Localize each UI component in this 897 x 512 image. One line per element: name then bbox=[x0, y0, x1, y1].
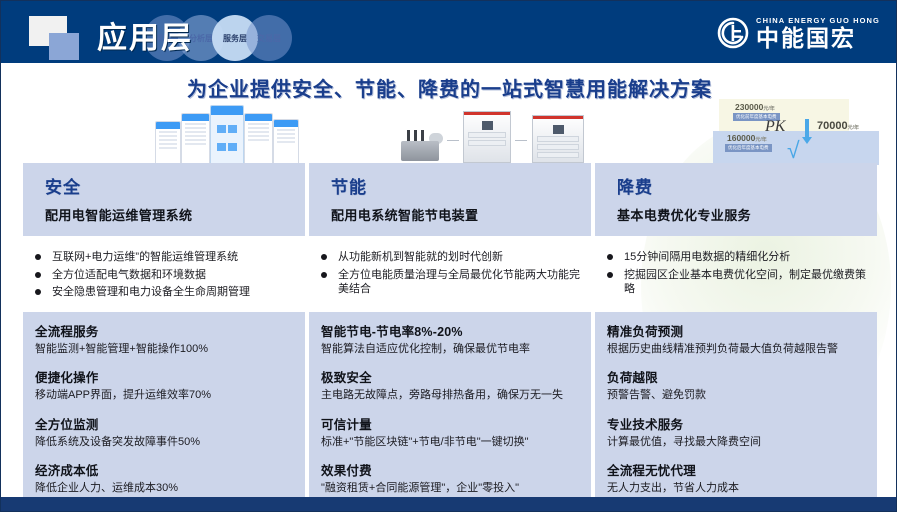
list-item: 全方位电能质量治理与全局最优化节能两大功能完美结合 bbox=[321, 268, 587, 297]
feature-item: 专业技术服务 计算最优值，寻找最大降费空间 bbox=[607, 414, 865, 449]
list-item: 互联网+电力运维”的智能运维管理系统 bbox=[35, 250, 301, 265]
phone-mockup-featured bbox=[210, 105, 244, 165]
column-heading: 降费 bbox=[617, 173, 877, 198]
feature-title: 负荷越限 bbox=[607, 367, 865, 386]
column-bullet-list: 15分钟间隔用电数据的精细化分析 挖掘园区企业基本电费优化空间，制定最优缴费策略 bbox=[595, 250, 877, 308]
transformer-icon bbox=[397, 127, 443, 161]
slide-header: 采集层 分析层 服务层 交易层 应用层 CHINA ENERGY GUO bbox=[1, 1, 897, 63]
list-item: 15分钟间隔用电数据的精细化分析 bbox=[607, 250, 873, 265]
column-header-card: 节能 配用电系统智能节电装置 bbox=[309, 163, 591, 236]
feature-desc: 降低系统及设备突发故障事件50% bbox=[35, 435, 293, 449]
feature-item: 负荷越限 预警告警、避免罚款 bbox=[607, 367, 865, 402]
layer-circle-trade[interactable]: 交易层 bbox=[246, 15, 292, 61]
feature-title: 全流程无忧代理 bbox=[607, 460, 865, 479]
page-title: 为企业提供安全、节能、降费的一站式智慧用能解决方案 bbox=[1, 73, 897, 102]
feature-item: 效果付费 "融资租赁+合同能源管理"，企业"零投入" bbox=[321, 460, 579, 495]
phone-mockup bbox=[181, 113, 210, 165]
column-header-card: 安全 配用电智能运维管理系统 bbox=[23, 163, 305, 236]
feature-item: 经济成本低 降低企业人力、运维成本30% bbox=[35, 460, 293, 495]
column-bullet-list: 互联网+电力运维”的智能运维管理系统 全方位适配电气数据和环境数据 安全隐患管理… bbox=[23, 250, 305, 308]
square-blue bbox=[49, 33, 79, 60]
column-artwork-phones bbox=[23, 105, 305, 163]
column-subheading: 基本电费优化专业服务 bbox=[617, 205, 877, 224]
list-item: 挖掘园区企业基本电费优化空间，制定最优缴费策略 bbox=[607, 268, 873, 297]
list-item: 安全隐患管理和电力设备全生命周期管理 bbox=[35, 285, 301, 300]
feature-title: 便捷化操作 bbox=[35, 367, 293, 386]
phone-mockup bbox=[244, 113, 273, 165]
pk-comparison-graphic: 230000元/年 优化前年度基本电费 PK 160000元/年 优化后年度基本… bbox=[713, 99, 879, 165]
list-item: 从功能新机到智能就的划时代创新 bbox=[321, 250, 587, 265]
feature-desc: 主电路无故障点，旁路母排热备用，确保万无一失 bbox=[321, 388, 579, 402]
equipment-image bbox=[397, 107, 587, 163]
feature-title: 智能节电-节电率8%-20% bbox=[321, 321, 579, 340]
company-logo-icon bbox=[717, 17, 749, 49]
column-energy-saving: 节能 配用电系统智能节电装置 从功能新机到智能就的划时代创新 全方位电能质量治理… bbox=[309, 105, 591, 507]
feature-desc: 智能算法自适应优化控制，确保最优节电率 bbox=[321, 342, 579, 356]
feature-title: 全流程服务 bbox=[35, 321, 293, 340]
feature-desc: 无人力支出，节省人力成本 bbox=[607, 481, 865, 495]
brand-logo: CHINA ENERGY GUO HONG 中能国宏 bbox=[717, 13, 880, 53]
feature-desc: 智能监测+智能管理+智能操作100% bbox=[35, 342, 293, 356]
feature-title: 效果付费 bbox=[321, 460, 579, 479]
slide: 采集层 分析层 服务层 交易层 应用层 CHINA ENERGY GUO bbox=[0, 0, 897, 512]
brand-name-en: CHINA ENERGY GUO HONG bbox=[756, 16, 880, 25]
pk-tag-after: 优化后年度基本电费 bbox=[725, 144, 772, 152]
phone-mockups-image bbox=[155, 103, 305, 165]
layer-circle-label: 交易层 bbox=[257, 33, 281, 44]
pk-value-before: 230000元/年 bbox=[735, 102, 775, 112]
feature-desc: 根据历史曲线精准预判负荷最大值负荷越限告警 bbox=[607, 342, 865, 356]
layer-circle-label: 服务层 bbox=[223, 33, 247, 44]
feature-title: 专业技术服务 bbox=[607, 414, 865, 433]
feature-item: 全方位监测 降低系统及设备突发故障事件50% bbox=[35, 414, 293, 449]
columns-container: 安全 配用电智能运维管理系统 互联网+电力运维”的智能运维管理系统 全方位适配电… bbox=[1, 105, 897, 497]
column-heading: 安全 bbox=[45, 173, 305, 198]
list-item: 全方位适配电气数据和环境数据 bbox=[35, 268, 301, 283]
cabinet-icon bbox=[463, 111, 511, 163]
feature-title: 可信计量 bbox=[321, 414, 579, 433]
feature-item: 便捷化操作 移动端APP界面，提升运维效率70% bbox=[35, 367, 293, 402]
slide-footer-bar bbox=[1, 497, 897, 511]
pk-unit-after: 元/年 bbox=[755, 137, 766, 143]
column-feature-panel: 智能节电-节电率8%-20% 智能算法自适应优化控制，确保最优节电率 极致安全 … bbox=[309, 312, 591, 507]
feature-title: 精准负荷预测 bbox=[607, 321, 865, 340]
connector-dash bbox=[515, 140, 527, 141]
check-icon: √ bbox=[787, 139, 800, 162]
feature-desc: 预警告警、避免罚款 bbox=[607, 388, 865, 402]
column-heading: 节能 bbox=[331, 173, 591, 198]
pk-saving-unit: 元/年 bbox=[848, 125, 859, 131]
column-bullet-list: 从功能新机到智能就的划时代创新 全方位电能质量治理与全局最优化节能两大功能完美结… bbox=[309, 250, 591, 308]
pk-label: PK bbox=[765, 118, 785, 136]
feature-item: 智能节电-节电率8%-20% 智能算法自适应优化控制，确保最优节电率 bbox=[321, 321, 579, 356]
pk-value-after-text: 160000 bbox=[727, 133, 755, 143]
feature-item: 全流程服务 智能监测+智能管理+智能操作100% bbox=[35, 321, 293, 356]
pk-saving-value: 70000元/年 bbox=[817, 120, 859, 132]
column-artwork-pk-chart: 230000元/年 优化前年度基本电费 PK 160000元/年 优化后年度基本… bbox=[595, 105, 877, 163]
phone-mockup bbox=[273, 119, 299, 165]
feature-item: 可信计量 标准+"节能区块链"+节电/非节电"一键切换" bbox=[321, 414, 579, 449]
feature-desc: 移动端APP界面，提升运维效率70% bbox=[35, 388, 293, 402]
column-feature-panel: 全流程服务 智能监测+智能管理+智能操作100% 便捷化操作 移动端APP界面，… bbox=[23, 312, 305, 507]
pk-value-after: 160000元/年 bbox=[727, 133, 767, 143]
app-layer-title: 应用层 bbox=[97, 13, 193, 57]
pk-saving-text: 70000 bbox=[817, 120, 848, 132]
column-security: 安全 配用电智能运维管理系统 互联网+电力运维”的智能运维管理系统 全方位适配电… bbox=[23, 105, 305, 507]
connector-dash bbox=[447, 140, 459, 141]
phone-mockup bbox=[155, 121, 181, 165]
column-cost-reduction: 230000元/年 优化前年度基本电费 PK 160000元/年 优化后年度基本… bbox=[595, 105, 877, 507]
feature-item: 全流程无忧代理 无人力支出，节省人力成本 bbox=[607, 460, 865, 495]
feature-title: 全方位监测 bbox=[35, 414, 293, 433]
brand-name-cn: 中能国宏 bbox=[756, 27, 880, 50]
column-artwork-equipment bbox=[309, 105, 591, 163]
decorative-squares-logo bbox=[29, 16, 89, 58]
column-subheading: 配用电智能运维管理系统 bbox=[45, 205, 305, 224]
column-subheading: 配用电系统智能节电装置 bbox=[331, 205, 591, 224]
column-feature-panel: 精准负荷预测 根据历史曲线精准预判负荷最大值负荷越限告警 负荷越限 预警告警、避… bbox=[595, 312, 877, 507]
feature-desc: "融资租赁+合同能源管理"，企业"零投入" bbox=[321, 481, 579, 495]
feature-item: 精准负荷预测 根据历史曲线精准预判负荷最大值负荷越限告警 bbox=[607, 321, 865, 356]
pk-unit-before: 元/年 bbox=[763, 106, 774, 112]
feature-item: 极致安全 主电路无故障点，旁路母排热备用，确保万无一失 bbox=[321, 367, 579, 402]
switchgear-icon bbox=[532, 115, 584, 163]
pk-value-before-text: 230000 bbox=[735, 102, 763, 112]
feature-desc: 标准+"节能区块链"+节电/非节电"一键切换" bbox=[321, 435, 579, 449]
column-header-card: 降费 基本电费优化专业服务 bbox=[595, 163, 877, 236]
feature-title: 极致安全 bbox=[321, 367, 579, 386]
feature-title: 经济成本低 bbox=[35, 460, 293, 479]
down-arrow-icon bbox=[805, 119, 809, 137]
feature-desc: 降低企业人力、运维成本30% bbox=[35, 481, 293, 495]
feature-desc: 计算最优值，寻找最大降费空间 bbox=[607, 435, 865, 449]
